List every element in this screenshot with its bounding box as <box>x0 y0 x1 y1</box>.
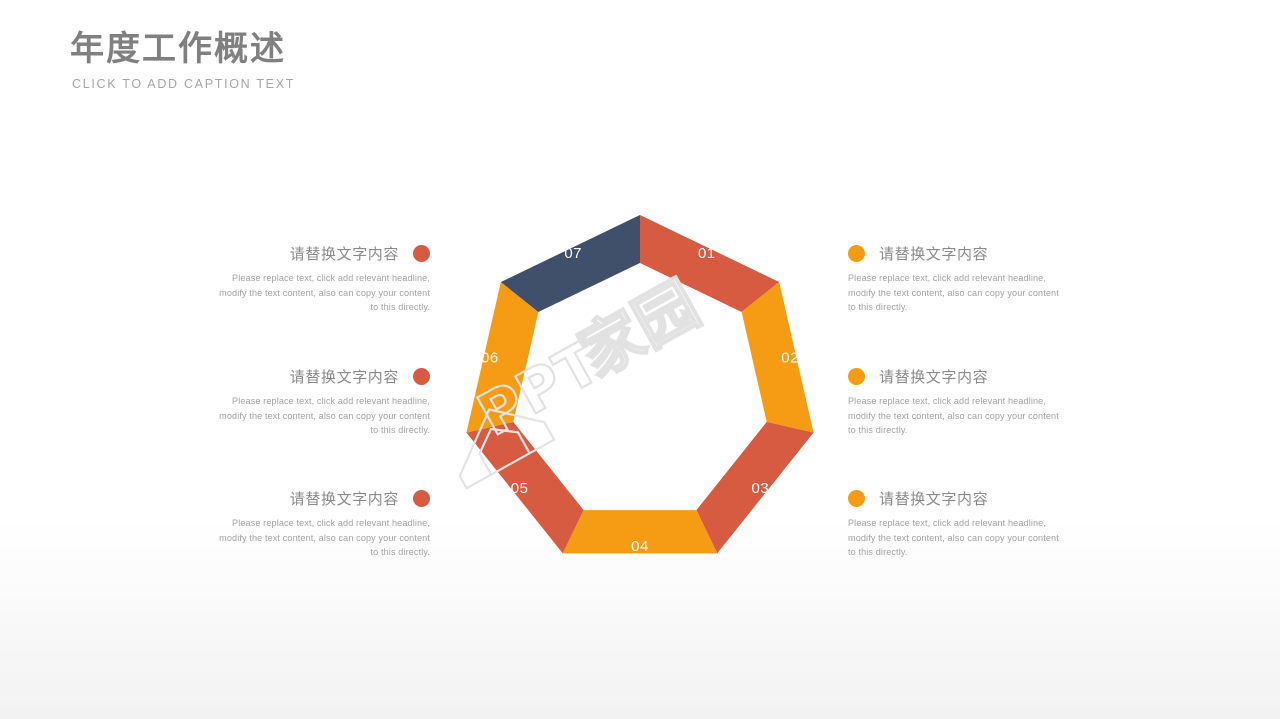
text-block-right-3[interactable]: 请替换文字内容 Please replace text, click add r… <box>848 488 1066 560</box>
block-body: Please replace text, click add relevant … <box>848 516 1066 560</box>
block-head-row: 请替换文字内容 <box>212 243 430 264</box>
segment-label-06: 06 <box>481 350 499 367</box>
block-body: Please replace text, click add relevant … <box>848 271 1066 315</box>
block-head-row: 请替换文字内容 <box>848 366 1066 387</box>
text-block-left-3[interactable]: 请替换文字内容 Please replace text, click add r… <box>212 488 430 560</box>
bullet-dot-icon <box>848 368 865 385</box>
block-body: Please replace text, click add relevant … <box>212 271 430 315</box>
heptagon-segment-07[interactable] <box>501 215 640 312</box>
segment-label-04: 04 <box>631 538 649 555</box>
page-title: 年度工作概述 <box>70 28 590 71</box>
page-subtitle: CLICK TO ADD CAPTION TEXT <box>72 77 590 91</box>
segment-label-01: 01 <box>698 245 716 262</box>
heptagon-segment-06[interactable] <box>466 282 538 433</box>
slide-canvas: 年度工作概述 CLICK TO ADD CAPTION TEXT 请替换文字内容… <box>0 0 1280 719</box>
bullet-dot-icon <box>413 245 430 262</box>
heptagon-segment-02[interactable] <box>742 282 814 433</box>
block-head-row: 请替换文字内容 <box>212 488 430 509</box>
text-block-left-2[interactable]: 请替换文字内容 Please replace text, click add r… <box>212 366 430 438</box>
heptagon-segments <box>466 215 813 553</box>
block-heading: 请替换文字内容 <box>879 488 988 509</box>
block-heading: 请替换文字内容 <box>290 243 399 264</box>
block-heading: 请替换文字内容 <box>290 488 399 509</box>
block-head-row: 请替换文字内容 <box>848 243 1066 264</box>
block-heading: 请替换文字内容 <box>879 366 988 387</box>
block-heading: 请替换文字内容 <box>290 366 399 387</box>
text-block-right-1[interactable]: 请替换文字内容 Please replace text, click add r… <box>848 243 1066 315</box>
heptagon-segment-01[interactable] <box>640 215 779 312</box>
bullet-dot-icon <box>848 490 865 507</box>
block-body: Please replace text, click add relevant … <box>212 394 430 438</box>
segment-label-07: 07 <box>564 245 582 262</box>
text-block-left-1[interactable]: 请替换文字内容 Please replace text, click add r… <box>212 243 430 315</box>
block-body: Please replace text, click add relevant … <box>848 394 1066 438</box>
bullet-dot-icon <box>413 490 430 507</box>
segment-label-05: 05 <box>511 480 529 497</box>
bullet-dot-icon <box>848 245 865 262</box>
segment-label-02: 02 <box>781 350 799 367</box>
title-block: 年度工作概述 CLICK TO ADD CAPTION TEXT <box>70 28 590 91</box>
block-heading: 请替换文字内容 <box>879 243 988 264</box>
segment-label-03: 03 <box>752 480 770 497</box>
heptagon-svg: 01020304050607 <box>452 205 828 581</box>
block-head-row: 请替换文字内容 <box>848 488 1066 509</box>
block-body: Please replace text, click add relevant … <box>212 516 430 560</box>
heptagon-ring-chart: 01020304050607 <box>452 205 828 581</box>
block-head-row: 请替换文字内容 <box>212 366 430 387</box>
text-block-right-2[interactable]: 请替换文字内容 Please replace text, click add r… <box>848 366 1066 438</box>
bullet-dot-icon <box>413 368 430 385</box>
